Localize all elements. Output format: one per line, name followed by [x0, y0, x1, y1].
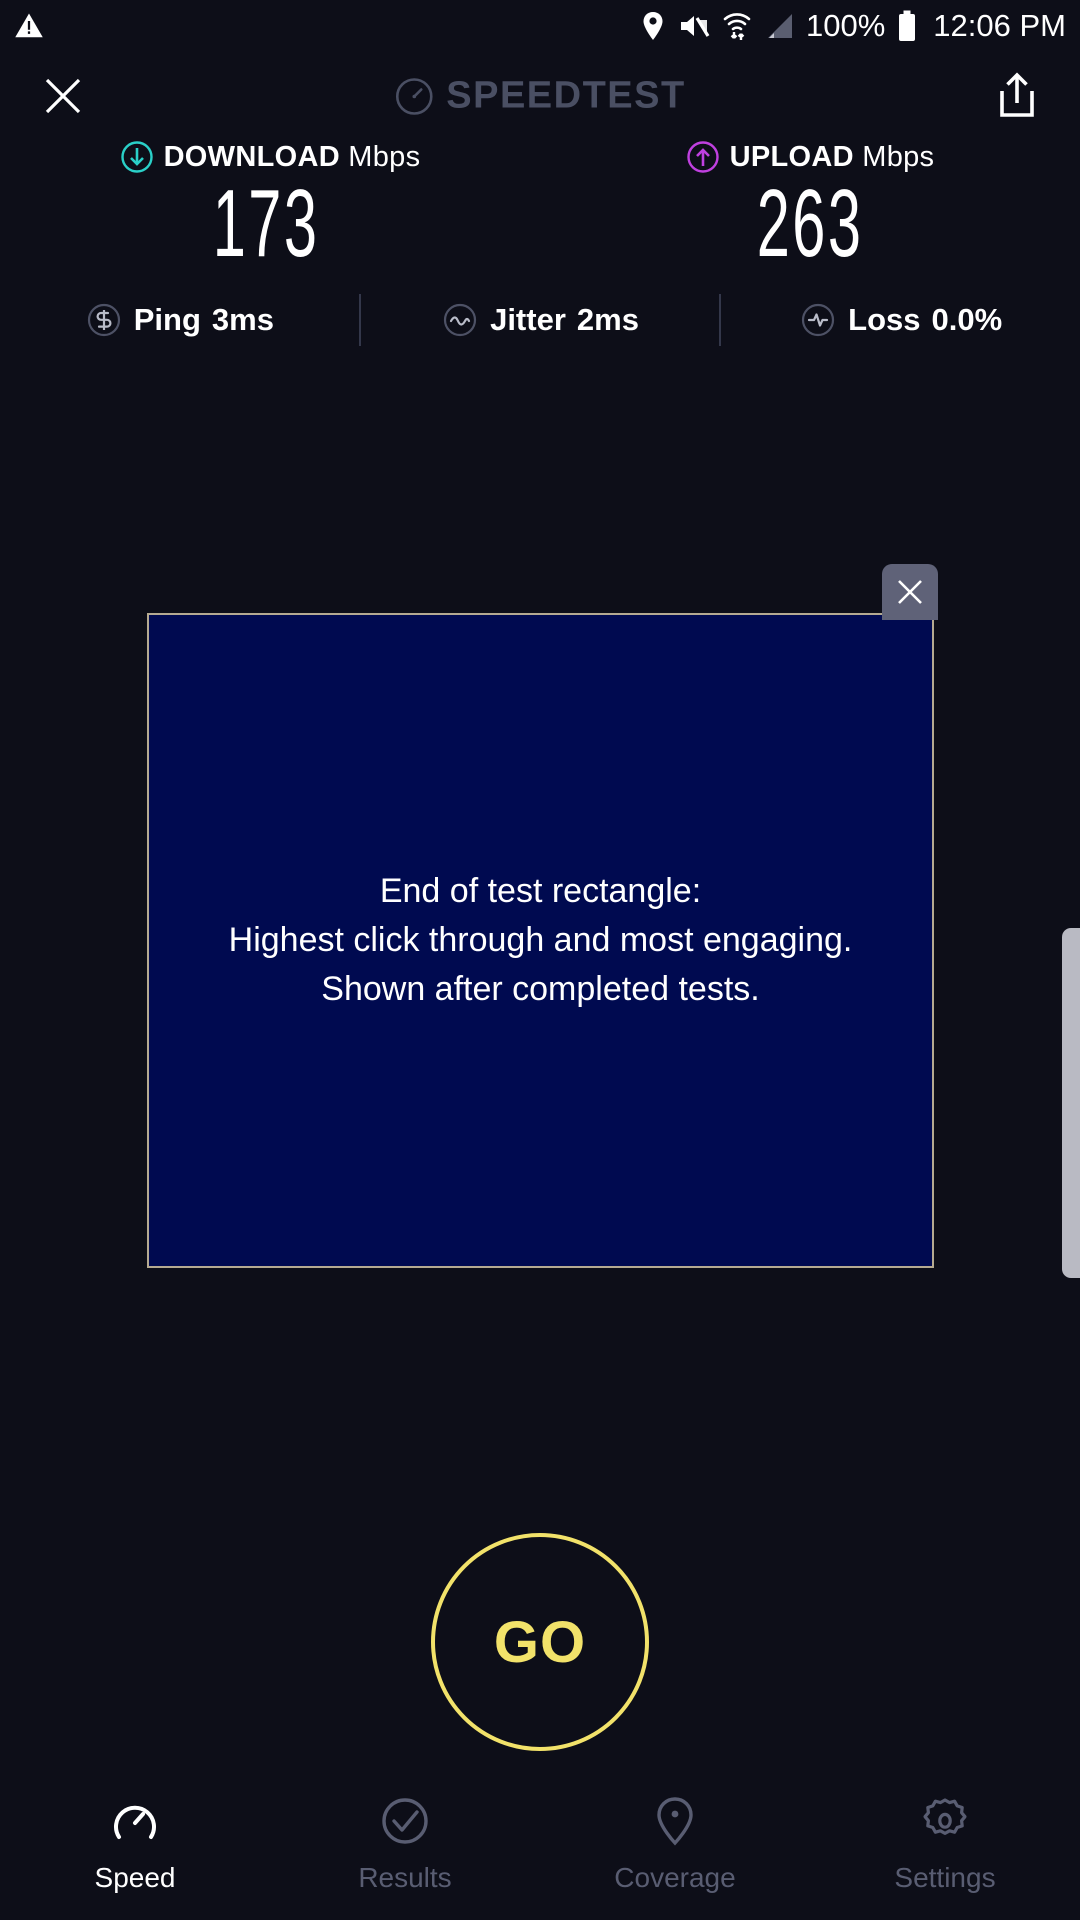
- nav-item-results[interactable]: Results: [270, 1760, 540, 1920]
- download-result: DOWNLOAD Mbps 173: [0, 140, 540, 272]
- metric-jitter: Jitter 2ms: [361, 301, 720, 339]
- ad-line-1: End of test rectangle:: [229, 867, 853, 916]
- gear-icon: [917, 1792, 973, 1850]
- mute-icon: [678, 11, 710, 41]
- ping-icon: [85, 301, 123, 339]
- system-status-bar: 100% 12:06 PM: [0, 0, 1080, 52]
- jitter-icon: [441, 301, 479, 339]
- upload-label: UPLOAD Mbps: [730, 141, 935, 174]
- upload-unit-text: Mbps: [862, 141, 934, 173]
- metric-loss: Loss 0.0%: [721, 301, 1080, 339]
- check-circle-icon: [377, 1792, 433, 1850]
- download-value: 173: [213, 176, 320, 272]
- ad-line-3: Shown after completed tests.: [229, 965, 853, 1014]
- nav-item-speed[interactable]: Speed: [0, 1760, 270, 1920]
- advertisement-rectangle[interactable]: End of test rectangle: Highest click thr…: [147, 613, 934, 1268]
- page-title: SPEEDTEST: [446, 75, 685, 118]
- metric-ping-value: 3ms: [212, 302, 274, 338]
- download-unit-text: Mbps: [348, 141, 420, 173]
- metric-ping-name: Ping: [134, 302, 201, 338]
- go-button-label: GO: [494, 1609, 586, 1676]
- vertical-scrollbar-thumb[interactable]: [1062, 928, 1080, 1278]
- close-button[interactable]: [36, 69, 90, 123]
- ad-line-2: Highest click through and most engaging.: [229, 916, 853, 965]
- speedometer-icon: [107, 1792, 163, 1850]
- app-header: SPEEDTEST: [0, 52, 1080, 140]
- status-bar-right: 100% 12:06 PM: [640, 8, 1066, 44]
- speedtest-app-screen: 100% 12:06 PM SPEEDTEST: [0, 0, 1080, 1920]
- ad-text-block: End of test rectangle: Highest click thr…: [229, 867, 853, 1015]
- share-button[interactable]: [990, 69, 1044, 123]
- nav-label-speed: Speed: [95, 1862, 176, 1894]
- upload-header: UPLOAD Mbps: [686, 140, 935, 174]
- metric-loss-name: Loss: [848, 302, 920, 338]
- speedtest-gauge-icon: [394, 76, 434, 116]
- loss-icon: [799, 301, 837, 339]
- test-results-panel: DOWNLOAD Mbps 173 UPLOAD Mbps: [0, 140, 1080, 346]
- download-label: DOWNLOAD Mbps: [164, 141, 421, 174]
- go-button[interactable]: GO: [431, 1533, 649, 1751]
- ad-close-icon: [893, 575, 927, 609]
- speed-results-row: DOWNLOAD Mbps 173 UPLOAD Mbps: [0, 140, 1080, 272]
- app-title-group: SPEEDTEST: [394, 75, 685, 118]
- metric-loss-value: 0.0%: [932, 302, 1003, 338]
- battery-full-icon: [897, 10, 917, 42]
- nav-label-settings: Settings: [894, 1862, 995, 1894]
- download-kind-text: DOWNLOAD: [164, 141, 340, 173]
- nav-label-coverage: Coverage: [614, 1862, 735, 1894]
- bottom-navigation-bar: Speed Results Coverage: [0, 1760, 1080, 1920]
- upload-value: 263: [757, 176, 864, 272]
- ad-close-button[interactable]: [882, 564, 938, 620]
- warning-triangle-icon: [14, 11, 44, 41]
- upload-arrow-icon: [686, 140, 720, 174]
- close-icon: [39, 72, 87, 120]
- upload-kind-text: UPLOAD: [730, 141, 854, 173]
- metric-jitter-name: Jitter: [490, 302, 566, 338]
- nav-label-results: Results: [358, 1862, 451, 1894]
- clock-label: 12:06 PM: [933, 8, 1066, 44]
- network-metrics-row: Ping 3ms Jitter 2ms Loss 0.0%: [0, 294, 1080, 346]
- metric-ping: Ping 3ms: [0, 301, 359, 339]
- upload-result: UPLOAD Mbps 263: [540, 140, 1080, 272]
- nav-item-coverage[interactable]: Coverage: [540, 1760, 810, 1920]
- signal-bars-icon: [764, 12, 794, 40]
- nav-item-settings[interactable]: Settings: [810, 1760, 1080, 1920]
- download-arrow-icon: [120, 140, 154, 174]
- battery-percent-label: 100%: [806, 8, 885, 44]
- download-header: DOWNLOAD Mbps: [120, 140, 421, 174]
- metric-jitter-value: 2ms: [577, 302, 639, 338]
- share-icon: [994, 71, 1040, 121]
- wifi-transfer-icon: [722, 10, 752, 42]
- status-bar-left: [14, 11, 44, 41]
- map-pin-icon: [647, 1792, 703, 1850]
- location-pin-icon: [640, 11, 666, 41]
